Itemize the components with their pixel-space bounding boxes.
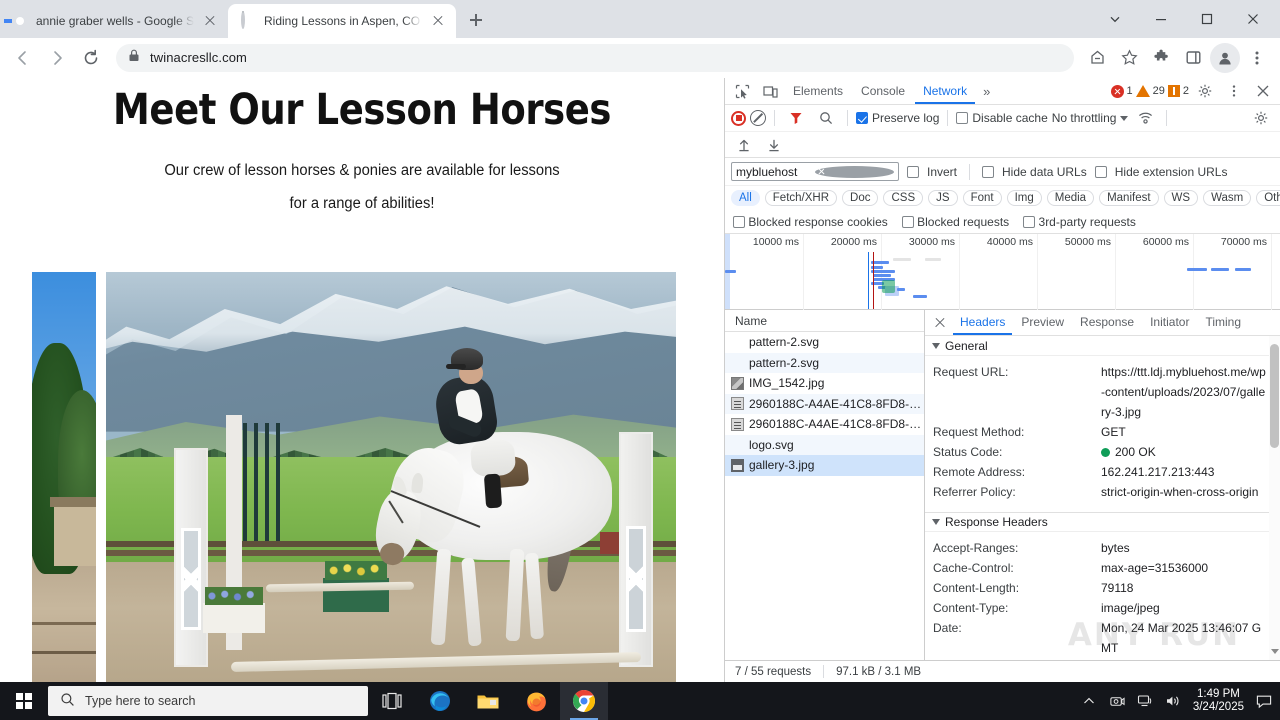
file-icon [731,356,744,369]
third-party-requests-checkbox[interactable] [1023,216,1035,228]
hide-data-urls-label[interactable]: Hide data URLs [1002,165,1087,179]
close-icon[interactable] [929,312,951,334]
preserve-log-checkbox[interactable] [856,112,868,124]
request-column-header[interactable]: Name [725,310,924,332]
scroll-down-arrow-icon[interactable] [1271,649,1279,654]
header-row-date: Date: Mon, 24 Mar 2025 13:46:07 GMT [925,618,1280,658]
throttling-select[interactable]: No throttling [1052,111,1117,125]
devtools-tab-elements[interactable]: Elements [785,78,851,104]
disable-cache-label[interactable]: Disable cache [972,111,1047,125]
search-icon[interactable] [813,106,839,130]
section-title: Response Headers [945,515,1048,529]
devtools-top-toolbar: Elements Console Network » 1 29 2 [725,78,1280,105]
header-key: Date: [933,618,1101,658]
devtools-tab-network[interactable]: Network [915,78,975,104]
google-icon [12,13,28,29]
browser-toolbar: twinacresllc.com [0,38,1280,78]
timeline-tick-label: 10000 ms [753,236,803,248]
disable-cache-checkbox[interactable] [956,112,968,124]
details-tab-headers[interactable]: Headers [953,310,1012,335]
network-settings-gear-icon[interactable] [1248,106,1274,130]
close-icon[interactable] [202,13,218,29]
request-name: pattern-2.svg [749,356,819,370]
windows-start-icon[interactable] [0,682,48,720]
header-row-content-type: Content-Type: image/jpeg [925,598,1280,618]
request-row-1[interactable]: pattern-2.svg [725,353,924,374]
lock-icon [128,49,140,67]
close-icon[interactable] [1230,3,1276,35]
filter-chip-manifest[interactable]: Manifest [1099,190,1158,206]
timeline-bars [725,252,1280,309]
image-file-icon [731,459,744,472]
section-response-headers[interactable]: Response Headers [925,512,1280,532]
invert-checkbox[interactable] [907,166,919,178]
action-center-icon[interactable] [1256,693,1272,709]
request-row-2[interactable]: IMG_1542.jpg [725,373,924,394]
header-key: Status Code: [933,442,1101,462]
warning-count: 29 [1153,85,1165,97]
request-row-0[interactable]: pattern-2.svg [725,332,924,353]
network-toolbar-row-1: Preserve log Disable cache No throttling [725,105,1280,132]
back-icon[interactable] [8,43,38,73]
header-value: strict-origin-when-cross-origin [1101,482,1280,502]
request-count: 7 / 55 requests [735,666,811,678]
details-tab-timing[interactable]: Timing [1198,310,1248,335]
record-stop-icon[interactable] [731,111,746,126]
status-ok-icon [1101,448,1110,457]
loading-spinner-icon [240,13,256,29]
taskbar-search-placeholder: Type here to search [85,694,195,708]
file-icon [731,336,744,349]
timeline-tick-label: 30000 ms [909,236,959,248]
details-tab-response[interactable]: Response [1073,310,1141,335]
blocked-response-cookies-label[interactable]: Blocked response cookies [748,215,887,229]
network-toolbar-row-2 [725,132,1280,158]
issue-counts: 1 29 2 [1111,79,1277,103]
filter-chip-fetch-xhr[interactable]: Fetch/XHR [765,190,837,206]
details-tab-preview[interactable]: Preview [1014,310,1071,335]
timeline-tick-label: 70000 ms [1221,236,1271,248]
address-bar[interactable]: twinacresllc.com [116,44,1074,72]
chevron-down-icon[interactable] [1092,3,1138,35]
task-view-icon[interactable] [368,682,416,720]
header-value: bytes [1101,538,1280,558]
hide-extension-urls-checkbox[interactable] [1095,166,1107,178]
timeline-tick-label: 60000 ms [1143,236,1193,248]
filter-chip-css[interactable]: CSS [883,190,923,206]
more-panels-chevron-icon[interactable]: » [977,84,996,99]
close-icon[interactable] [430,13,446,29]
request-details-tabs: Headers Preview Response Initiator Timin… [925,310,1280,336]
tab-strip: annie graber wells - Google Sear Riding … [0,0,1280,38]
header-value: max-age=31536000 [1101,558,1280,578]
file-icon [731,438,744,451]
filter-chip-media[interactable]: Media [1047,190,1094,206]
extra-filter-checkboxes: Blocked response cookies Blocked request… [725,210,1280,234]
timeline-tick-label: 50000 ms [1065,236,1115,248]
minimize-icon[interactable] [1138,3,1184,35]
request-name: gallery-3.jpg [749,458,814,472]
blocked-response-cookies-checkbox[interactable] [733,216,745,228]
header-key: Request Method: [933,422,1101,442]
page-subtitle-line-1: Our crew of lesson horses & ponies are a… [18,154,706,187]
chrome-menu-icon[interactable] [1242,43,1272,73]
filter-chip-font[interactable]: Font [963,190,1002,206]
request-row-3[interactable]: 2960188C-A4AE-41C8-8FD8-2… [725,394,924,415]
details-tab-initiator[interactable]: Initiator [1143,310,1196,335]
network-status-bar: 7 / 55 requests 97.1 kB / 3.1 MB [725,660,1280,682]
section-title: General [945,339,988,353]
image-file-icon [731,377,744,390]
taskbar-clock[interactable]: 1:49 PM 3/24/2025 [1193,688,1244,714]
scrollbar-thumb[interactable] [1270,344,1279,448]
side-panel-icon[interactable] [1178,43,1208,73]
error-count: 1 [1127,85,1133,97]
page-viewport: Meet Our Lesson Horses Our crew of lesso… [0,78,724,682]
network-overview-timeline[interactable]: 10000 ms 20000 ms 30000 ms 40000 ms 5000… [725,234,1280,310]
timeline-tick-label: 20000 ms [831,236,881,248]
gallery [0,272,724,682]
address-bar-url: twinacresllc.com [150,50,247,65]
hide-data-urls-checkbox[interactable] [982,166,994,178]
request-list-pane: Name pattern-2.svg pattern-2.svg IMG_154… [725,310,925,660]
section-general[interactable]: General [925,336,1280,356]
header-row-content-length: Content-Length: 79118 [925,578,1280,598]
filter-chip-js[interactable]: JS [928,190,957,206]
filter-funnel-icon[interactable] [783,106,809,130]
toolbar-icons [1082,43,1272,73]
inspect-element-icon[interactable] [729,79,755,103]
google-chrome-icon[interactable] [560,682,608,720]
resource-type-filters: All Fetch/XHR Doc CSS JS Font Img Media … [725,186,1280,210]
share-icon[interactable] [1082,43,1112,73]
request-name: pattern-2.svg [749,335,819,349]
header-key: Request URL: [933,362,1101,422]
timeline-tick-label: 40000 ms [987,236,1037,248]
issue-icon [1168,85,1180,97]
file-explorer-icon[interactable] [464,682,512,720]
header-row-request-url: Request URL: https://ttt.ldj.mybluehost.… [925,362,1280,422]
network-icon[interactable] [1137,693,1153,709]
taskbar-search-input[interactable]: Type here to search [48,686,368,716]
invert-label[interactable]: Invert [927,165,957,179]
gallery-image-main[interactable] [106,272,676,682]
network-conditions-icon[interactable] [1132,106,1158,130]
firefox-icon[interactable] [512,682,560,720]
browser-window: annie graber wells - Google Sear Riding … [0,0,1280,720]
blocked-requests-checkbox[interactable] [902,216,914,228]
profile-avatar-icon[interactable] [1210,43,1240,73]
clock-date: 3/24/2025 [1193,701,1244,714]
import-har-icon[interactable] [731,133,757,157]
request-row-5[interactable]: logo.svg [725,435,924,456]
extensions-puzzle-icon[interactable] [1146,43,1176,73]
filter-chip-all[interactable]: All [731,190,760,206]
request-row-4[interactable]: 2960188C-A4AE-41C8-8FD8-2… [725,414,924,435]
header-value[interactable]: https://ttt.ldj.mybluehost.me/wp-content… [1101,362,1280,422]
header-key: Referrer Policy: [933,482,1101,502]
clear-input-icon[interactable] [815,166,894,178]
devtools-tab-console[interactable]: Console [853,78,913,104]
show-hidden-icons-icon[interactable] [1081,693,1097,709]
filter-chip-ws[interactable]: WS [1164,190,1199,206]
header-row-remote-address: Remote Address: 162.241.217.213:443 [925,462,1280,482]
page-title: Meet Our Lesson Horses [51,84,674,136]
camera-icon[interactable] [1109,693,1125,709]
document-file-icon [731,397,744,410]
kebab-menu-icon[interactable] [1221,79,1247,103]
maximize-icon[interactable] [1184,3,1230,35]
header-value: image/jpeg [1101,598,1280,618]
header-key: Content-Length: [933,578,1101,598]
filter-value: mybluehost [736,165,815,179]
forward-icon[interactable] [42,43,72,73]
windows-taskbar: Type here to search [0,682,1280,720]
new-tab-button[interactable] [462,6,490,34]
gallery-image-left[interactable] [32,272,96,682]
header-row-request-method: Request Method: GET [925,422,1280,442]
transferred-size: 97.1 kB / 3.1 MB [836,666,921,678]
blocked-requests-label[interactable]: Blocked requests [917,215,1009,229]
request-name: IMG_1542.jpg [749,376,824,390]
header-value: GET [1101,422,1280,442]
request-name: 2960188C-A4AE-41C8-8FD8-2… [749,397,924,411]
filter-chip-doc[interactable]: Doc [842,190,878,206]
header-row-accept-ranges: Accept-Ranges: bytes [925,538,1280,558]
issue-count: 2 [1183,85,1189,97]
preserve-log-label[interactable]: Preserve log [872,111,939,125]
header-value: Mon, 24 Mar 2025 13:46:07 GMT [1101,618,1280,658]
filter-chip-other[interactable]: Other [1256,190,1280,206]
bookmark-star-icon[interactable] [1114,43,1144,73]
request-name: 2960188C-A4AE-41C8-8FD8-2… [749,417,924,431]
chevron-down-icon[interactable] [1120,116,1128,121]
close-devtools-icon[interactable] [1250,79,1276,103]
gear-icon[interactable] [1192,79,1218,103]
window-controls [1092,0,1280,38]
toggle-device-toolbar-icon[interactable] [757,79,783,103]
page-subtitle-line-2: for a range of abilities! [18,187,706,220]
clear-network-log-icon[interactable] [750,110,766,126]
filter-chip-img[interactable]: Img [1007,190,1042,206]
details-scrollbar[interactable] [1269,336,1280,660]
search-icon [60,692,75,710]
browser-tab-1[interactable]: Riding Lessons in Aspen, CO | H [228,4,456,38]
reload-icon[interactable] [76,43,106,73]
header-row-cache-control: Cache-Control: max-age=31536000 [925,558,1280,578]
microsoft-edge-icon[interactable] [416,682,464,720]
browser-tab-0[interactable]: annie graber wells - Google Sear [0,4,228,38]
header-key: Content-Type: [933,598,1101,618]
request-name: logo.svg [749,438,794,452]
header-value: 200 OK [1115,445,1156,459]
expand-triangle-icon [932,343,940,349]
header-key: Remote Address: [933,462,1101,482]
document-file-icon [731,418,744,431]
request-details-body: General Request URL: https://ttt.ldj.myb… [925,336,1280,660]
system-tray: 1:49 PM 3/24/2025 [1081,688,1280,714]
header-key: Cache-Control: [933,558,1101,578]
request-list[interactable]: pattern-2.svg pattern-2.svg IMG_1542.jpg… [725,332,924,660]
tab-title: Riding Lessons in Aspen, CO | H [264,14,422,28]
network-filter-row: mybluehost Invert Hide data URLs Hide ex… [725,158,1280,186]
header-value: 162.241.217.213:443 [1101,462,1280,482]
devtools-panel: Elements Console Network » 1 29 2 [724,78,1280,682]
export-har-icon[interactable] [761,133,787,157]
request-details-pane: Headers Preview Response Initiator Timin… [925,310,1280,660]
header-row-referrer-policy: Referrer Policy: strict-origin-when-cros… [925,482,1280,502]
expand-triangle-icon [932,519,940,525]
network-split-view: Name pattern-2.svg pattern-2.svg IMG_154… [725,310,1280,660]
tab-title: annie graber wells - Google Sear [36,14,194,28]
header-row-status-code: Status Code: 200 OK [925,442,1280,462]
warning-icon [1136,85,1150,97]
header-value: 79118 [1101,578,1280,598]
network-filter-input[interactable]: mybluehost [731,162,899,181]
request-row-6-selected[interactable]: gallery-3.jpg [725,455,924,476]
hide-extension-urls-label[interactable]: Hide extension URLs [1115,165,1228,179]
header-key: Accept-Ranges: [933,538,1101,558]
error-icon [1111,85,1124,98]
clock-time: 1:49 PM [1193,688,1244,701]
volume-icon[interactable] [1165,693,1181,709]
filter-chip-wasm[interactable]: Wasm [1203,190,1251,206]
third-party-requests-label[interactable]: 3rd-party requests [1039,215,1136,229]
